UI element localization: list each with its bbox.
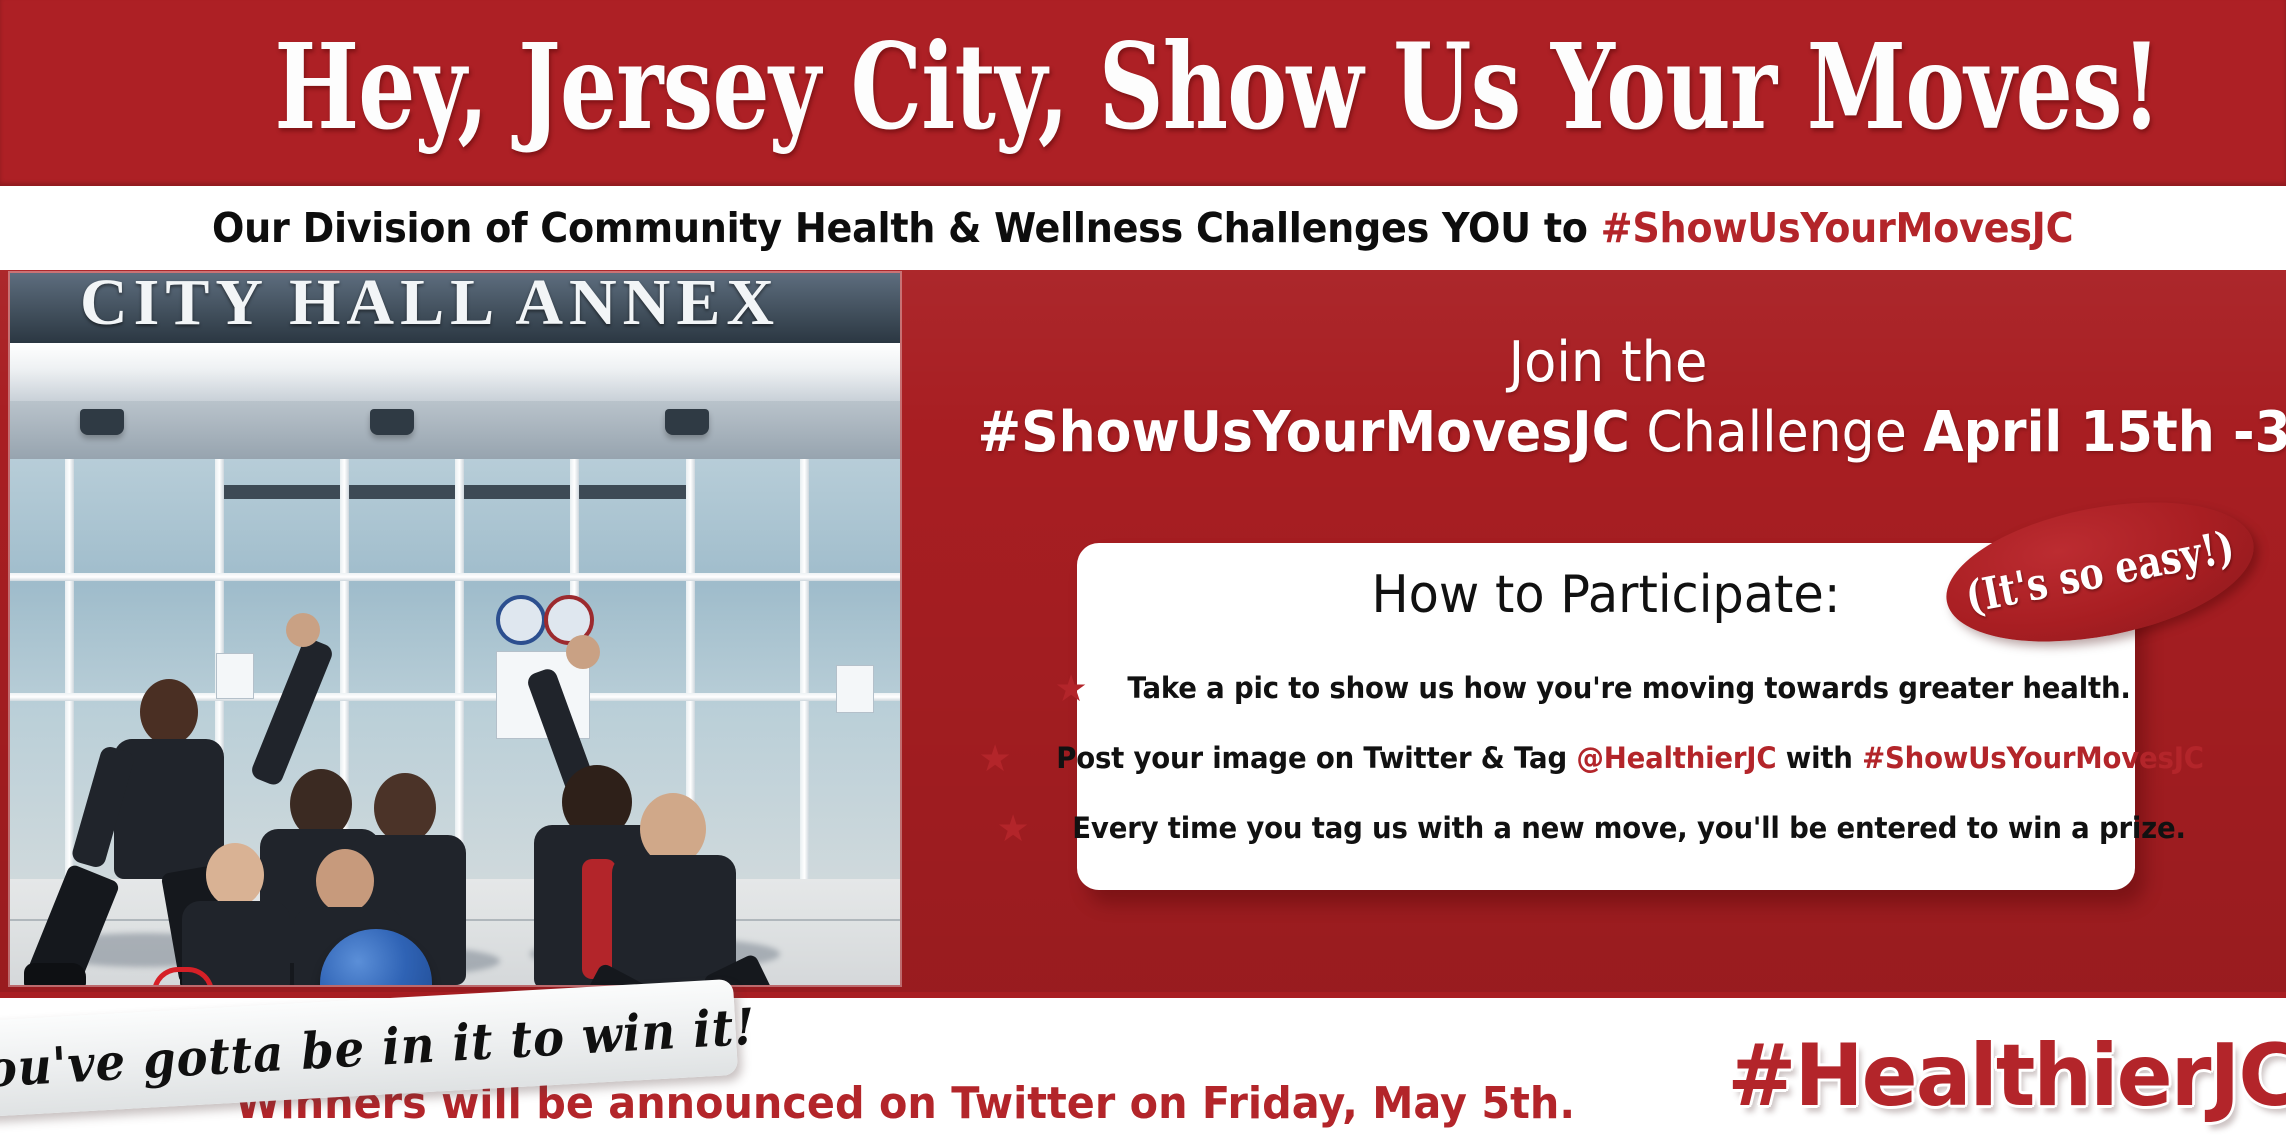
list-item: ★ Take a pic to show us how you're movin…	[1107, 653, 2105, 723]
photo-person-head	[316, 849, 374, 913]
star-icon: ★	[996, 810, 1029, 847]
photo-window-mullion	[455, 459, 464, 879]
photo-person-hand	[566, 635, 600, 669]
challenge-word: Challenge	[1630, 400, 1923, 465]
challenge-hashtag: #ShowUsYourMovesJC	[977, 400, 1629, 465]
group-photo: CITY HALL ANNEX	[10, 273, 900, 985]
photo-building-sign-text: CITY HALL ANNEX	[80, 273, 900, 341]
poster-root: Hey, Jersey City, Show Us Your Moves! Ou…	[0, 0, 2286, 1144]
photo-window-mullion	[10, 573, 900, 581]
photo-door-notice	[216, 653, 254, 699]
handle-mention: @HealthierJC	[1576, 741, 1776, 775]
subtitle-text: Our Division of Community Health & Welln…	[212, 204, 2073, 252]
photo-soffit-light	[370, 409, 414, 435]
list-item-text: Every time you tag us with a new move, y…	[1073, 811, 2186, 845]
list-item-text: Post your image on Twitter & Tag @Health…	[1056, 741, 2204, 775]
photo-building-cornice	[10, 343, 900, 401]
hashtag-mention: #ShowUsYourMovesJC	[1862, 741, 2204, 775]
healthierjc-logo: #HealthierJC	[1727, 1028, 2265, 1124]
photo-building-soffit	[10, 401, 900, 459]
photo-soffit-light	[80, 409, 124, 435]
subtitle-band: Our Division of Community Health & Welln…	[0, 186, 2286, 270]
star-icon: ★	[1054, 670, 1087, 707]
list-item: ★ Every time you tag us with a new move,…	[1107, 793, 2105, 863]
list-item-text: Take a pic to show us how you're moving …	[1128, 671, 2131, 705]
photo-person-head	[374, 773, 436, 843]
photo-person-head	[140, 679, 198, 745]
challenge-dates: April 15th -30th	[1923, 400, 2286, 465]
subtitle-prefix: Our Division of Community Health & Welln…	[212, 204, 1601, 252]
photo-door-seal	[496, 595, 546, 645]
header-band: Hey, Jersey City, Show Us Your Moves!	[0, 0, 2286, 186]
challenge-heading: #ShowUsYourMovesJC Challenge April 15th …	[977, 398, 2238, 468]
photo-person-hand	[286, 613, 320, 647]
photo-person-head	[206, 843, 264, 907]
subtitle-hashtag: #ShowUsYourMovesJC	[1601, 204, 2074, 252]
photo-window-mullion	[65, 459, 74, 879]
join-heading: Join the	[971, 330, 2246, 396]
photo-person-torso	[612, 855, 736, 985]
photo-person-scarf	[582, 859, 616, 979]
photo-door-notice	[836, 665, 874, 713]
photo-soffit-light	[665, 409, 709, 435]
page-title: Hey, Jersey City, Show Us Your Moves!	[274, 12, 2011, 162]
photo-window-mullion	[800, 459, 809, 879]
participate-bullet-list: ★ Take a pic to show us how you're movin…	[1107, 653, 2105, 863]
list-item: ★ Post your image on Twitter & Tag @Heal…	[1107, 723, 2105, 793]
star-icon: ★	[979, 740, 1012, 777]
photo-person-shoe	[24, 963, 86, 985]
